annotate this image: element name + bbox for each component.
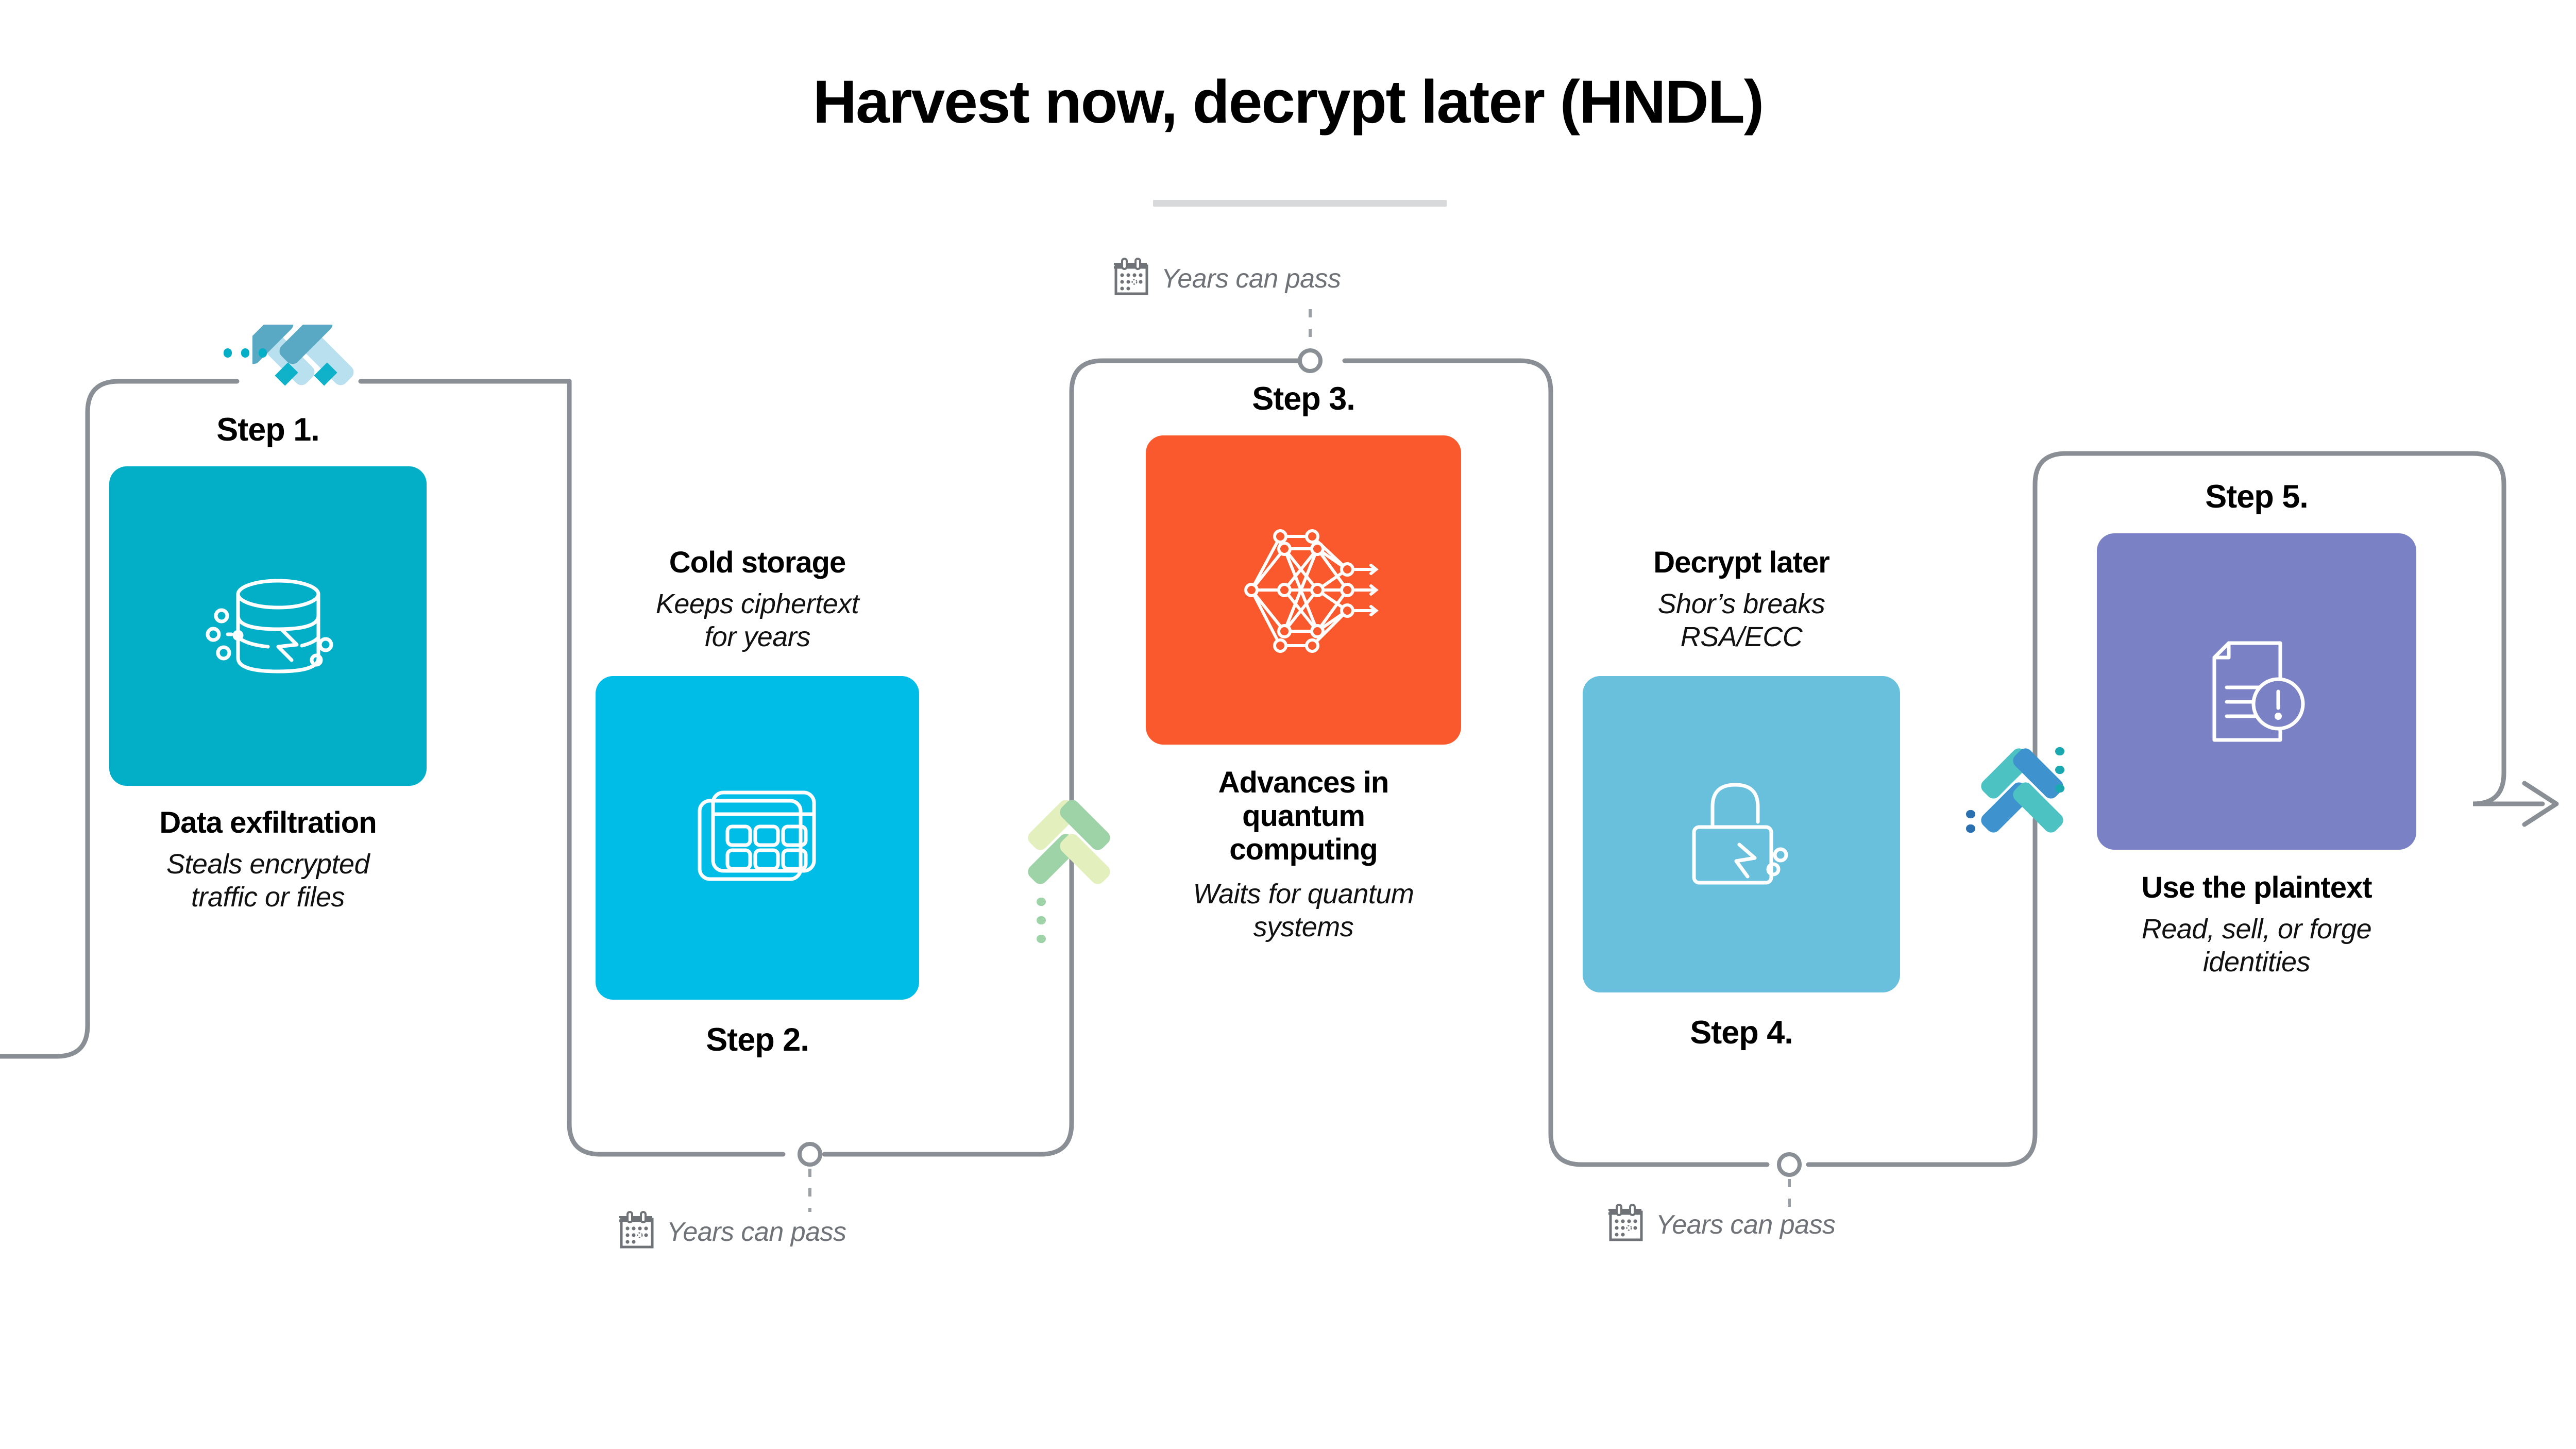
step-3-heading: Advances in quantum computing <box>1123 766 1484 867</box>
note-anchor-step3 <box>1300 350 1320 371</box>
note-anchor-step2 <box>800 1144 820 1165</box>
database-breach-icon <box>191 549 345 703</box>
note-anchor-step4 <box>1779 1154 1800 1175</box>
note-text: Years can pass <box>1656 1209 1836 1240</box>
note-years-can-pass-step3: Years can pass <box>1113 258 1341 299</box>
calendar-icon <box>618 1211 655 1253</box>
chevron-up-green-dots-icon <box>1035 897 1048 949</box>
calendar-icon <box>1607 1204 1645 1245</box>
title-divider <box>1153 200 1447 207</box>
step-5-label: Step 5. <box>2092 479 2421 515</box>
chevron-right-dots-icon <box>223 346 272 362</box>
step-3-label: Step 3. <box>1123 381 1484 417</box>
neural-network-icon <box>1224 518 1383 662</box>
chevron-up-double-green-icon <box>1020 794 1118 897</box>
step-1[interactable]: Step 1. Dat <box>103 412 433 914</box>
step-1-heading: Data exfiltration <box>103 806 433 840</box>
step-3-sub: Waits for quantum systems <box>1123 878 1484 943</box>
step-4-sub: Shor’s breaks RSA/ECC <box>1577 588 1906 653</box>
step-5[interactable]: Step 5. Use the plaintext Read, sell, or… <box>2092 479 2421 979</box>
step-4[interactable]: Decrypt later Shor’s breaks RSA/ECC Step… <box>1577 546 1906 1051</box>
note-text: Years can pass <box>1161 263 1341 294</box>
step-2-label: Step 2. <box>592 1022 922 1058</box>
page-title: Harvest now, decrypt later (HNDL) <box>0 67 2576 137</box>
step-2[interactable]: Cold storage Keeps ciphertext for years … <box>592 546 922 1058</box>
step-1-label: Step 1. <box>103 412 433 448</box>
step-5-heading: Use the plaintext <box>2092 871 2421 905</box>
step-5-tile[interactable] <box>2097 533 2416 850</box>
step-3-tile[interactable] <box>1146 435 1461 745</box>
step-4-label: Step 4. <box>1577 1015 1906 1051</box>
step-4-heading: Decrypt later <box>1577 546 1906 580</box>
step-4-tile[interactable] <box>1583 676 1900 992</box>
step-1-sub: Steals encrypted traffic or files <box>103 848 433 914</box>
chevron-up-blue-dots-right-icon <box>2053 746 2066 800</box>
archive-stack-icon <box>680 761 835 915</box>
document-alert-icon <box>2184 614 2329 769</box>
step-1-tile[interactable] <box>109 466 427 786</box>
note-years-can-pass-step2: Years can pass <box>618 1211 846 1253</box>
chevron-up-blue-dots-left-icon <box>1964 809 1977 848</box>
step-3[interactable]: Step 3. <box>1123 381 1484 944</box>
note-text: Years can pass <box>667 1217 846 1248</box>
calendar-icon <box>1113 258 1150 299</box>
flow-end-arrow-icon <box>2524 783 2556 824</box>
step-5-sub: Read, sell, or forge identities <box>2092 913 2421 979</box>
step-2-sub: Keeps ciphertext for years <box>592 588 922 653</box>
note-years-can-pass-step4: Years can pass <box>1607 1204 1836 1245</box>
broken-padlock-icon <box>1669 757 1814 912</box>
step-2-tile[interactable] <box>596 676 919 1000</box>
hndl-infographic: Harvest now, decrypt later (HNDL) <box>0 0 2576 1449</box>
step-2-heading: Cold storage <box>592 546 922 580</box>
